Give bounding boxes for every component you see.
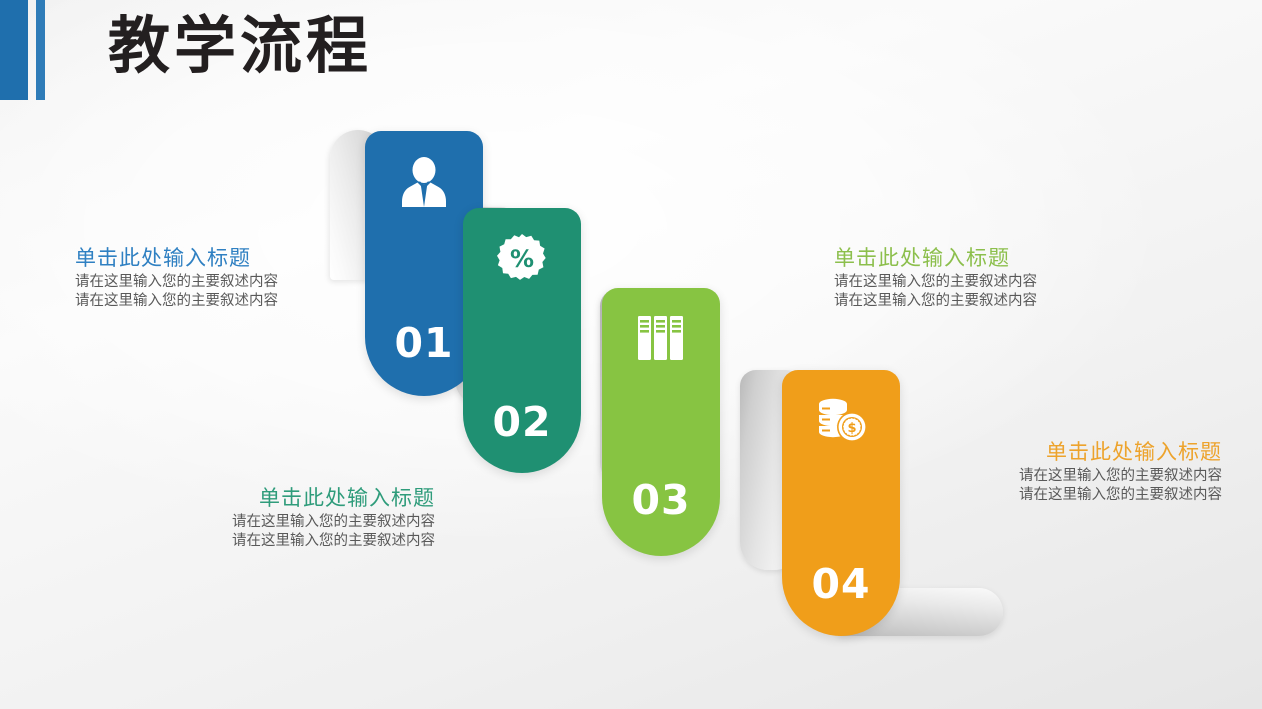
step-card-04[interactable]: $ 04	[782, 370, 900, 636]
step-body-line-04-1: 请在这里输入您的主要叙述内容	[940, 467, 1222, 486]
step-body-line-01-1: 请在这里输入您的主要叙述内容	[75, 273, 325, 292]
step-text-03: 单击此处输入标题 请在这里输入您的主要叙述内容 请在这里输入您的主要叙述内容	[834, 243, 1094, 311]
step-title-01: 单击此处输入标题	[75, 243, 325, 273]
step-number-02: 02	[463, 398, 581, 446]
step-body-line-03-2: 请在这里输入您的主要叙述内容	[834, 292, 1094, 311]
coins-money-icon: $	[782, 394, 900, 450]
step-body-line-04-2: 请在这里输入您的主要叙述内容	[940, 486, 1222, 505]
step-title-03: 单击此处输入标题	[834, 243, 1094, 273]
step-card-02[interactable]: % 02	[463, 208, 581, 473]
slide-canvas: 教学流程 01 单击此处输入标题 请在这里输入您的主要叙述内容 请在这里输入您的…	[0, 0, 1262, 709]
svg-text:$: $	[847, 421, 856, 436]
step-card-03[interactable]: 03	[602, 288, 720, 556]
step-body-line-01-2: 请在这里输入您的主要叙述内容	[75, 292, 325, 311]
svg-text:%: %	[510, 245, 534, 273]
step-number-03: 03	[602, 476, 720, 524]
step-number-04: 04	[782, 560, 900, 608]
step-body-line-02-1: 请在这里输入您的主要叙述内容	[150, 513, 435, 532]
page-title: 教学流程	[108, 2, 372, 90]
businessman-icon	[365, 155, 483, 213]
step-text-02: 单击此处输入标题 请在这里输入您的主要叙述内容 请在这里输入您的主要叙述内容	[150, 483, 435, 551]
step-title-02: 单击此处输入标题	[150, 483, 435, 513]
step-body-line-02-2: 请在这里输入您的主要叙述内容	[150, 532, 435, 551]
books-icon	[602, 312, 720, 368]
title-accent-bar-wide	[0, 0, 28, 100]
step-text-01: 单击此处输入标题 请在这里输入您的主要叙述内容 请在这里输入您的主要叙述内容	[75, 243, 325, 311]
step-title-04: 单击此处输入标题	[940, 437, 1222, 467]
title-accent-bar-thin	[36, 0, 45, 100]
step-text-04: 单击此处输入标题 请在这里输入您的主要叙述内容 请在这里输入您的主要叙述内容	[940, 437, 1222, 505]
percent-badge-icon: %	[463, 232, 581, 290]
step-body-line-03-1: 请在这里输入您的主要叙述内容	[834, 273, 1094, 292]
